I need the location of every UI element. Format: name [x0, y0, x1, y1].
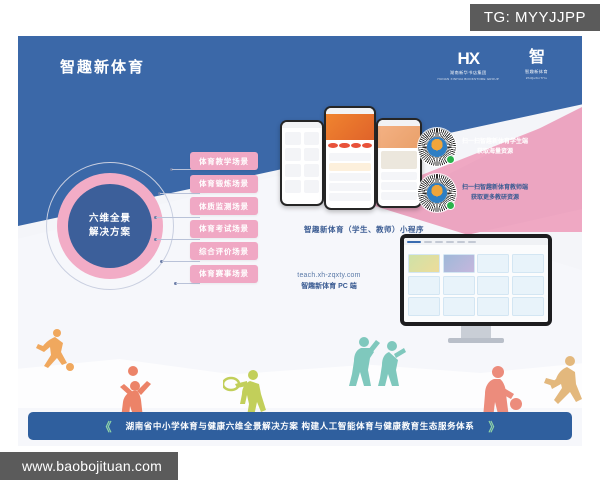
course-card — [443, 297, 475, 316]
right-chevron-icon: 》 — [488, 418, 500, 435]
zhiqu-sports-logo: 智 智趣新体育 ZhiQuXinTiYu — [525, 50, 548, 80]
athlete-volleyball — [116, 366, 154, 418]
badminton-players-icon — [348, 334, 406, 386]
scene-tag-competition[interactable]: 体育赛事场景 — [190, 265, 258, 283]
phone-list-row — [381, 172, 417, 180]
zq-logo-mark: 智 — [525, 50, 548, 66]
qr-teacher-text: 扫一扫智趣新体育教师端 获取更多教研资源 — [462, 183, 528, 203]
logo-group: HX 湖南新华书店集团 HUNAN XINHUA BOOKSTORE GROUP… — [437, 50, 548, 81]
phone-action-grid — [282, 128, 322, 197]
phone-grid-cell — [285, 132, 301, 145]
leader-line — [176, 283, 200, 284]
basketball-player-icon — [480, 364, 524, 418]
qr-student-text: 扫一扫智趣新体育学生端 获取海量资源 — [462, 137, 528, 157]
course-card — [477, 276, 509, 295]
diagram-center-line2: 解决方案 — [89, 226, 131, 240]
volleyball-player-icon — [116, 366, 154, 418]
phone-hero-banner — [326, 114, 374, 140]
monitor-frame — [400, 234, 552, 326]
phone-grid-cell — [285, 148, 301, 161]
six-scene-diagram: 六维全景 解决方案 体育教学场景 体育锻炼场景 体质监测场 — [40, 134, 280, 334]
screenshot-root: 智趣新体育 HX 湖南新华书店集团 HUNAN XINHUA BOOKSTORE… — [0, 0, 600, 480]
phone-grid-cell — [304, 180, 320, 193]
course-card — [512, 276, 544, 295]
hunan-xinhua-logo: HX 湖南新华书店集团 HUNAN XINHUA BOOKSTORE GROUP — [437, 50, 499, 81]
phone-quick-icon — [328, 143, 338, 148]
pc-url[interactable]: teach.xh-zqxty.com — [270, 272, 388, 279]
course-card — [512, 297, 544, 316]
course-card — [443, 276, 475, 295]
hx-logo-cn: 湖南新华书店集团 — [437, 70, 499, 76]
web-nav-item — [435, 241, 443, 243]
web-nav-item — [424, 241, 432, 243]
athlete-running — [540, 354, 582, 408]
phone-content-card — [381, 151, 417, 169]
phone-mockups — [280, 98, 440, 218]
diagram-center-line1: 六维全景 — [89, 212, 131, 226]
course-card — [408, 297, 440, 316]
ribbon-text: 湖南省中小学体育与健康六维全景解决方案 构建人工智能体育与健康教育生态服务体系 — [126, 420, 475, 432]
phone-icon-row — [326, 140, 374, 151]
phone-screen — [282, 122, 322, 204]
course-card — [408, 254, 440, 273]
qr-teacher-line2: 获取更多教研资源 — [462, 193, 528, 203]
phone-grid-cell — [285, 164, 301, 177]
scene-tag-exam[interactable]: 体育考试场景 — [190, 220, 258, 238]
qr-code-icon[interactable] — [418, 174, 456, 212]
scene-tag-monitoring[interactable]: 体质监测场景 — [190, 197, 258, 215]
web-course-grid — [404, 252, 548, 318]
athlete-badminton-pair — [348, 334, 406, 386]
qr-student[interactable]: 扫一扫智趣新体育学生端 获取海量资源 — [418, 128, 568, 166]
course-card — [512, 254, 544, 273]
athlete-soccer — [36, 328, 76, 372]
hx-logo-mark: HX — [437, 50, 499, 67]
phone-list-row — [329, 173, 371, 181]
qr-student-line2: 获取海量资源 — [462, 147, 528, 157]
soccer-player-icon — [36, 328, 76, 372]
zq-logo-cn: 智趣新体育 — [525, 69, 548, 75]
phone-list-row — [381, 182, 417, 190]
course-card — [443, 254, 475, 273]
phone-photo-card — [378, 126, 420, 148]
desktop-monitor-mockup — [400, 234, 552, 346]
scene-tag-training[interactable]: 体育锻炼场景 — [190, 175, 258, 193]
hx-logo-en: HUNAN XINHUA BOOKSTORE GROUP — [437, 77, 499, 81]
web-brand-logo — [407, 241, 421, 243]
phone-list-row-highlight — [329, 163, 371, 171]
phone-quick-icon — [362, 143, 372, 148]
web-nav-item — [446, 241, 454, 243]
phone-list-row — [329, 183, 371, 191]
monitor-screen — [404, 238, 548, 322]
web-subheader — [408, 247, 544, 251]
pc-name: 智趣新体育 PC 端 — [270, 281, 388, 291]
phone-list-row — [329, 193, 371, 201]
scene-tag-list: 体育教学场景 体育锻炼场景 体质监测场景 体育考试场景 综合评价场景 体育赛事场… — [190, 152, 258, 283]
phone-screen — [378, 120, 420, 206]
athlete-basketball — [480, 364, 524, 418]
phone-mockup-right — [376, 118, 422, 208]
website-watermark: www.baobojituan.com — [0, 452, 178, 480]
phone-quick-icon — [339, 143, 349, 148]
phone-mockup-center — [324, 106, 376, 210]
web-navbar — [404, 238, 548, 245]
qr-student-line1: 扫一扫智趣新体育学生端 — [462, 139, 528, 145]
poster-image: 智趣新体育 HX 湖南新华书店集团 HUNAN XINHUA BOOKSTORE… — [18, 36, 582, 446]
phone-quick-icon — [351, 143, 361, 148]
scene-tag-evaluation[interactable]: 综合评价场景 — [190, 242, 258, 260]
phone-grid-cell — [304, 148, 320, 161]
web-nav-item — [468, 241, 476, 243]
course-card — [477, 254, 509, 273]
qr-code-icon[interactable] — [418, 128, 456, 166]
diagram-center-circle: 六维全景 解决方案 — [68, 184, 152, 268]
phone-grid-cell — [304, 164, 320, 177]
monitor-base — [448, 338, 504, 343]
phone-screen — [326, 108, 374, 208]
qr-teacher-line1: 扫一扫智趣新体育教师端 — [462, 185, 528, 191]
running-player-icon — [540, 354, 582, 408]
qr-teacher[interactable]: 扫一扫智趣新体育教师端 获取更多教研资源 — [418, 174, 568, 212]
left-chevron-icon: 《 — [100, 418, 112, 435]
bottom-ribbon-banner: 《 湖南省中小学体育与健康六维全景解决方案 构建人工智能体育与健康教育生态服务体… — [28, 412, 572, 440]
phone-list-row — [381, 192, 417, 200]
pc-caption: teach.xh-zqxty.com 智趣新体育 PC 端 — [270, 272, 388, 291]
wechat-badge-icon — [446, 201, 455, 210]
phone-grid-cell — [285, 180, 301, 193]
zq-logo-en: ZhiQuXinTiYu — [525, 76, 548, 80]
poster-title: 智趣新体育 — [60, 56, 145, 77]
monitor-stand — [461, 326, 491, 338]
course-card — [477, 297, 509, 316]
telegram-tag-overlay: TG: MYYJJPP — [470, 4, 600, 31]
tennis-player-icon — [223, 368, 271, 416]
athlete-tennis — [223, 368, 271, 416]
phone-grid-cell — [304, 132, 320, 145]
phone-list-row — [329, 153, 371, 161]
web-nav-item — [457, 241, 465, 243]
course-card — [408, 276, 440, 295]
scene-tag-teaching[interactable]: 体育教学场景 — [190, 152, 258, 170]
phone-mockup-left — [280, 120, 324, 206]
wechat-badge-icon — [446, 155, 455, 164]
